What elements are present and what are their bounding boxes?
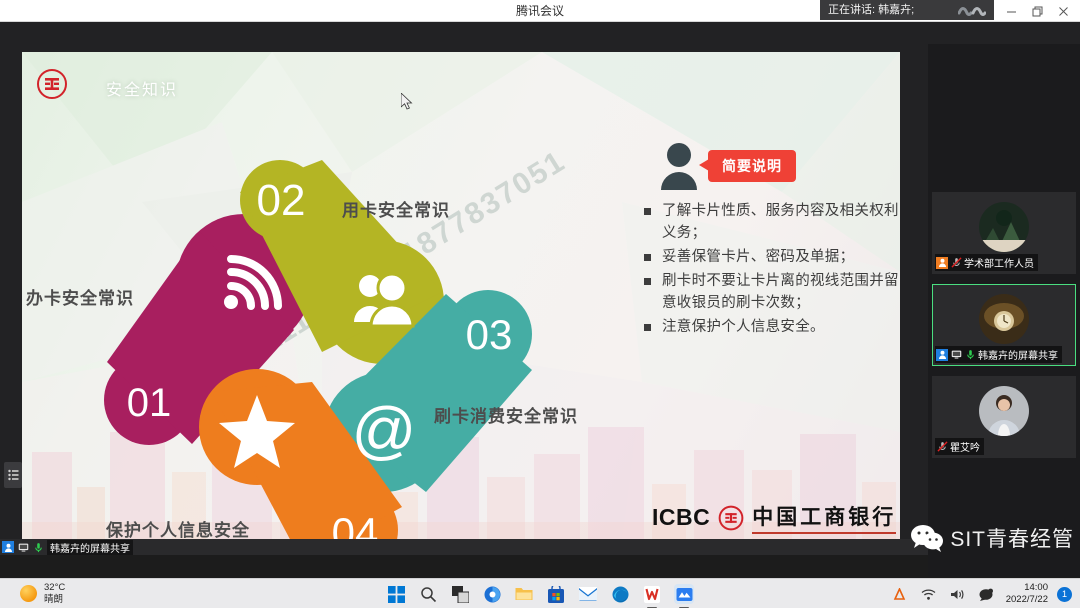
participant-name-bar: 学术部工作人员 xyxy=(935,254,1038,271)
meeting-window-body: 安全知识 21110202201877837051 xyxy=(0,22,1080,555)
node-02-number: 02 xyxy=(257,176,306,225)
bullet-text: 刷卡时不要让卡片离的视线范围并留意收银员的刷卡次数； xyxy=(662,273,899,311)
sun-icon xyxy=(20,585,37,602)
mic-active-icon xyxy=(32,541,44,553)
window-controls xyxy=(998,0,1076,22)
speaking-indicator-label: 正在讲话: 韩嘉卉; xyxy=(828,4,914,16)
file-explorer-icon[interactable] xyxy=(514,584,534,604)
bullet-item: 刷卡时不要让卡片离的视线范围并留意收银员的刷卡次数； xyxy=(640,270,900,314)
minimize-button[interactable] xyxy=(998,0,1024,22)
participant-name: 瞿艾吟 xyxy=(950,439,980,454)
brief-badge: 简要说明 xyxy=(708,150,796,182)
weather-temperature: 32°C xyxy=(44,582,65,594)
participant-video-rail: 学术部工作人员 xyxy=(928,44,1080,577)
participant-name-bar: 瞿艾吟 xyxy=(935,438,984,455)
input-method-icon[interactable] xyxy=(977,584,997,604)
wechat-icon xyxy=(910,524,944,552)
screen-share-icon xyxy=(950,349,962,361)
brief-bullet-list: 了解卡片性质、服务内容及相关权利义务； 妥善保管卡片、密码及单据； 刷卡时不要让… xyxy=(640,200,900,338)
mic-muted-icon xyxy=(950,257,962,269)
mail-icon[interactable] xyxy=(578,584,598,604)
participant-name: 学术部工作人员 xyxy=(964,255,1034,270)
brand-cn-text: 中国工商银行 xyxy=(752,501,896,534)
close-button[interactable] xyxy=(1050,0,1076,22)
bullet-item: 注意保护个人信息安全。 xyxy=(640,316,900,338)
participants-panel-toggle[interactable] xyxy=(4,462,22,488)
bullet-item: 了解卡片性质、服务内容及相关权利义务； xyxy=(640,200,900,244)
mic-active-icon xyxy=(964,349,976,361)
bullet-item: 妥善保管卡片、密码及单据； xyxy=(640,246,900,268)
weather-condition: 晴朗 xyxy=(44,594,65,606)
bullet-square-icon xyxy=(644,324,651,331)
node-04-label: 保护个人信息安全 xyxy=(106,516,250,541)
brief-description-block: 简要说明 了解卡片性质、服务内容及相关权利义务； 妥善保管卡片、密码及单据； 刷… xyxy=(640,142,900,340)
mouse-cursor xyxy=(401,93,413,111)
avatar xyxy=(979,386,1029,436)
speaking-indicator: 正在讲话: 韩嘉卉; xyxy=(820,0,994,20)
at-sign-icon: @ xyxy=(352,394,417,466)
task-view-icon[interactable] xyxy=(450,584,470,604)
node-03-number: 03 xyxy=(466,311,513,358)
clock[interactable]: 14:00 2022/7/22 xyxy=(1006,582,1048,606)
infographic-graphic: 02 01 03 04 xyxy=(22,52,642,542)
screen-root: 腾讯会议 正在讲话: 韩嘉卉; xyxy=(0,0,1080,608)
avatar xyxy=(979,202,1029,252)
person-silhouette-icon xyxy=(658,142,700,190)
node-03-label: 刷卡消费安全常识 xyxy=(434,402,578,427)
avatar-image xyxy=(979,386,1029,436)
bullet-text: 了解卡片性质、服务内容及相关权利义务； xyxy=(662,203,899,241)
clock-date: 2022/7/22 xyxy=(1006,594,1048,606)
node-01-label: 办卡安全常识 xyxy=(26,284,134,309)
clock-time: 14:00 xyxy=(1006,582,1048,594)
tray-app-icon[interactable] xyxy=(890,584,910,604)
screen-share-icon xyxy=(17,541,29,553)
screen-share-owner-label: 韩嘉卉的屏幕共享 xyxy=(47,540,133,555)
self-badge-icon xyxy=(2,541,14,553)
node-02-label: 用卡安全常识 xyxy=(342,196,450,221)
brand-en-text: ICBC xyxy=(652,504,710,531)
slide-footer-brand: ICBC 中国工商银行 xyxy=(652,501,896,534)
avatar-image xyxy=(979,202,1029,252)
microsoft-store-icon[interactable] xyxy=(546,584,566,604)
tencent-meeting-icon[interactable] xyxy=(674,584,694,604)
wps-office-icon[interactable] xyxy=(642,584,662,604)
participant-tile[interactable]: 学术部工作人员 xyxy=(932,192,1076,274)
node-04-number: 04 xyxy=(332,509,379,542)
weather-widget[interactable]: 32°C 晴朗 xyxy=(20,582,65,606)
avatar-image xyxy=(979,294,1029,344)
system-tray: 14:00 2022/7/22 1 xyxy=(890,579,1072,608)
bullet-square-icon xyxy=(644,208,651,215)
windows-taskbar: 32°C 晴朗 xyxy=(0,578,1080,608)
taskbar-icon-group xyxy=(386,579,694,608)
brief-header: 简要说明 xyxy=(640,142,900,194)
self-badge-icon xyxy=(936,349,948,361)
host-badge-icon xyxy=(936,257,948,269)
participant-tile[interactable]: 韩嘉卉的屏幕共享 xyxy=(932,284,1076,366)
notification-badge[interactable]: 1 xyxy=(1057,587,1072,602)
search-icon[interactable] xyxy=(418,584,438,604)
window-title-bar: 腾讯会议 正在讲话: 韩嘉卉; xyxy=(0,0,1080,22)
bullet-square-icon xyxy=(644,254,651,261)
start-button[interactable] xyxy=(386,584,406,604)
wifi-icon[interactable] xyxy=(919,584,939,604)
restore-button[interactable] xyxy=(1024,0,1050,22)
icbc-logo-icon xyxy=(718,505,744,531)
shared-screen-slide[interactable]: 安全知识 21110202201877837051 xyxy=(22,52,900,542)
wechat-account-name: SIT青春经管 xyxy=(950,523,1074,553)
weather-text: 32°C 晴朗 xyxy=(44,582,65,606)
avatar xyxy=(979,294,1029,344)
screen-share-status-bar: 韩嘉卉的屏幕共享 xyxy=(0,539,928,555)
audio-wave-icon xyxy=(958,3,986,17)
bullet-text: 注意保护个人信息安全。 xyxy=(662,319,825,335)
volume-icon[interactable] xyxy=(948,584,968,604)
wechat-watermark-overlay: SIT青春经管 xyxy=(910,523,1074,553)
participant-tile[interactable]: 瞿艾吟 xyxy=(932,376,1076,458)
edge-browser-icon[interactable] xyxy=(610,584,630,604)
list-icon xyxy=(8,469,19,481)
participant-name: 韩嘉卉的屏幕共享 xyxy=(978,347,1058,362)
widgets-icon[interactable] xyxy=(482,584,502,604)
bullet-text: 妥善保管卡片、密码及单据； xyxy=(662,249,854,265)
mic-muted-icon xyxy=(936,441,948,453)
participant-name-bar: 韩嘉卉的屏幕共享 xyxy=(935,346,1062,363)
node-01-number: 01 xyxy=(127,381,172,425)
bullet-square-icon xyxy=(644,278,651,285)
